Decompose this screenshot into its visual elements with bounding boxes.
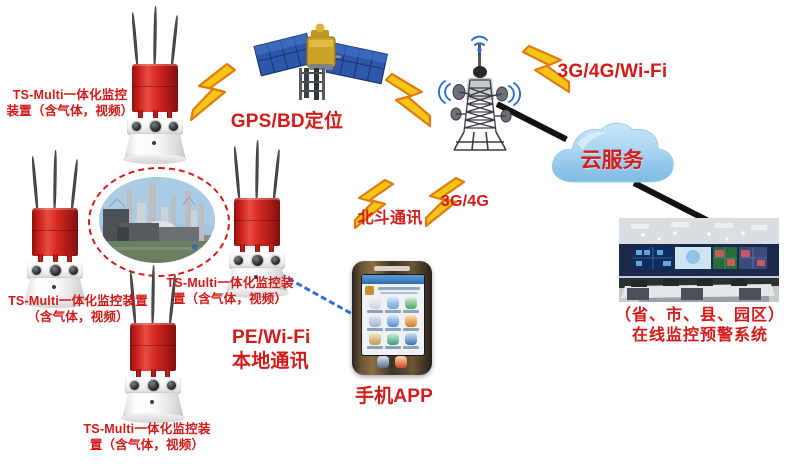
device-antenna [255,140,259,202]
cloud-service-icon: 云服务 [545,118,679,190]
device-antenna [153,6,157,68]
tablet-top-ports [374,266,410,271]
tablet-user-badge [365,286,374,295]
app-label-chart [385,328,401,331]
device-camera-lens [132,122,141,131]
tablet-subtitle-bar [380,292,418,294]
tablet-app-grid-row4 [361,356,423,370]
app-label-map [385,310,401,313]
app-label-camera [367,346,383,349]
label-device-top-left: TS-Multi一体化监控 装置（含气体，视频） [2,88,138,119]
label-device-mid-left: TS-Multi一体化监控装置 （含气体，视频） [0,294,156,325]
device-antenna [31,156,39,212]
device-antenna [131,12,139,68]
app-label-settings [403,310,419,313]
handheld-terminal-icon [352,261,432,375]
tablet-title-bar [378,287,420,290]
plant-photo-highlight-ring [88,167,230,277]
device-camera-lens [252,255,263,266]
app-label-home [367,310,383,313]
tablet-status-bar [362,275,424,284]
label-gps-bd: GPS/BD定位 [222,110,352,134]
label-device-center: TS-Multi一体化监控装 置（含气体，视频） [160,276,300,307]
app-icon-pause [405,333,417,345]
device-antenna [70,159,79,213]
device-camera-lens [150,121,161,132]
device-camera-lens [167,381,176,390]
control-room-photo [619,218,779,302]
device-camera-lens [271,256,280,265]
app-icon-run [395,356,407,368]
label-3g4g: 3G/4G [430,192,500,212]
device-sensor-ring [125,377,181,394]
label-device-bottom-left: TS-Multi一体化监控装 置（含气体，视频） [72,422,222,453]
device-sensor-ring [229,252,285,269]
app-icon-home [369,297,381,309]
device-camera-lens [148,380,159,391]
label-control-center: （省、市、县、园区） 在线监控预警系统 [608,306,792,346]
app-label-alarm [403,328,419,331]
label-mobile-app: 手机APP [348,385,440,409]
device-sensor-ring [127,118,183,135]
label-beidou: 北斗通讯 [345,209,435,229]
bolt-gps-right-icon [378,72,436,130]
device-body-red [130,323,176,371]
device-indicator [152,141,156,145]
device-indicator [150,400,154,404]
device-antenna [170,15,179,69]
tablet-app-grid [362,297,424,355]
device-camera-lens [69,266,78,275]
device-indicator [52,285,56,289]
app-icon-alarm [405,315,417,327]
app-icon-compass [377,356,389,368]
app-label-files [367,328,383,331]
device-antenna [272,149,281,203]
device-sensor-ring [27,262,83,279]
device-camera-lens [234,256,243,265]
app-icon-camera [369,333,381,345]
app-label-pause [403,346,419,349]
cloud-service-label: 云服务 [545,144,679,174]
app-icon-gas [387,333,399,345]
label-3g4g-wifi: 3G/4G/Wi-Fi [545,60,680,84]
device-antenna [233,146,241,202]
app-icon-settings [405,297,417,309]
satellite-icon [245,8,391,104]
device-antenna [53,150,57,212]
device-2 [10,150,102,310]
app-label-gas [385,346,401,349]
app-icon-chart [387,315,399,327]
device-camera-lens [130,381,139,390]
device-body-red [234,198,280,246]
device-camera-lens [169,122,178,131]
device-body-red [132,64,178,112]
device-cone-lip [123,154,187,164]
device-camera-lens [50,265,61,276]
app-icon-map [387,297,399,309]
diagram-canvas: 云服务 [0,0,797,464]
label-pe-wifi: PE/Wi-Fi 本地通讯 [232,326,344,374]
tablet-screen [361,274,425,356]
app-icon-files [369,315,381,327]
device-body-red [32,208,78,256]
device-camera-lens [32,266,41,275]
